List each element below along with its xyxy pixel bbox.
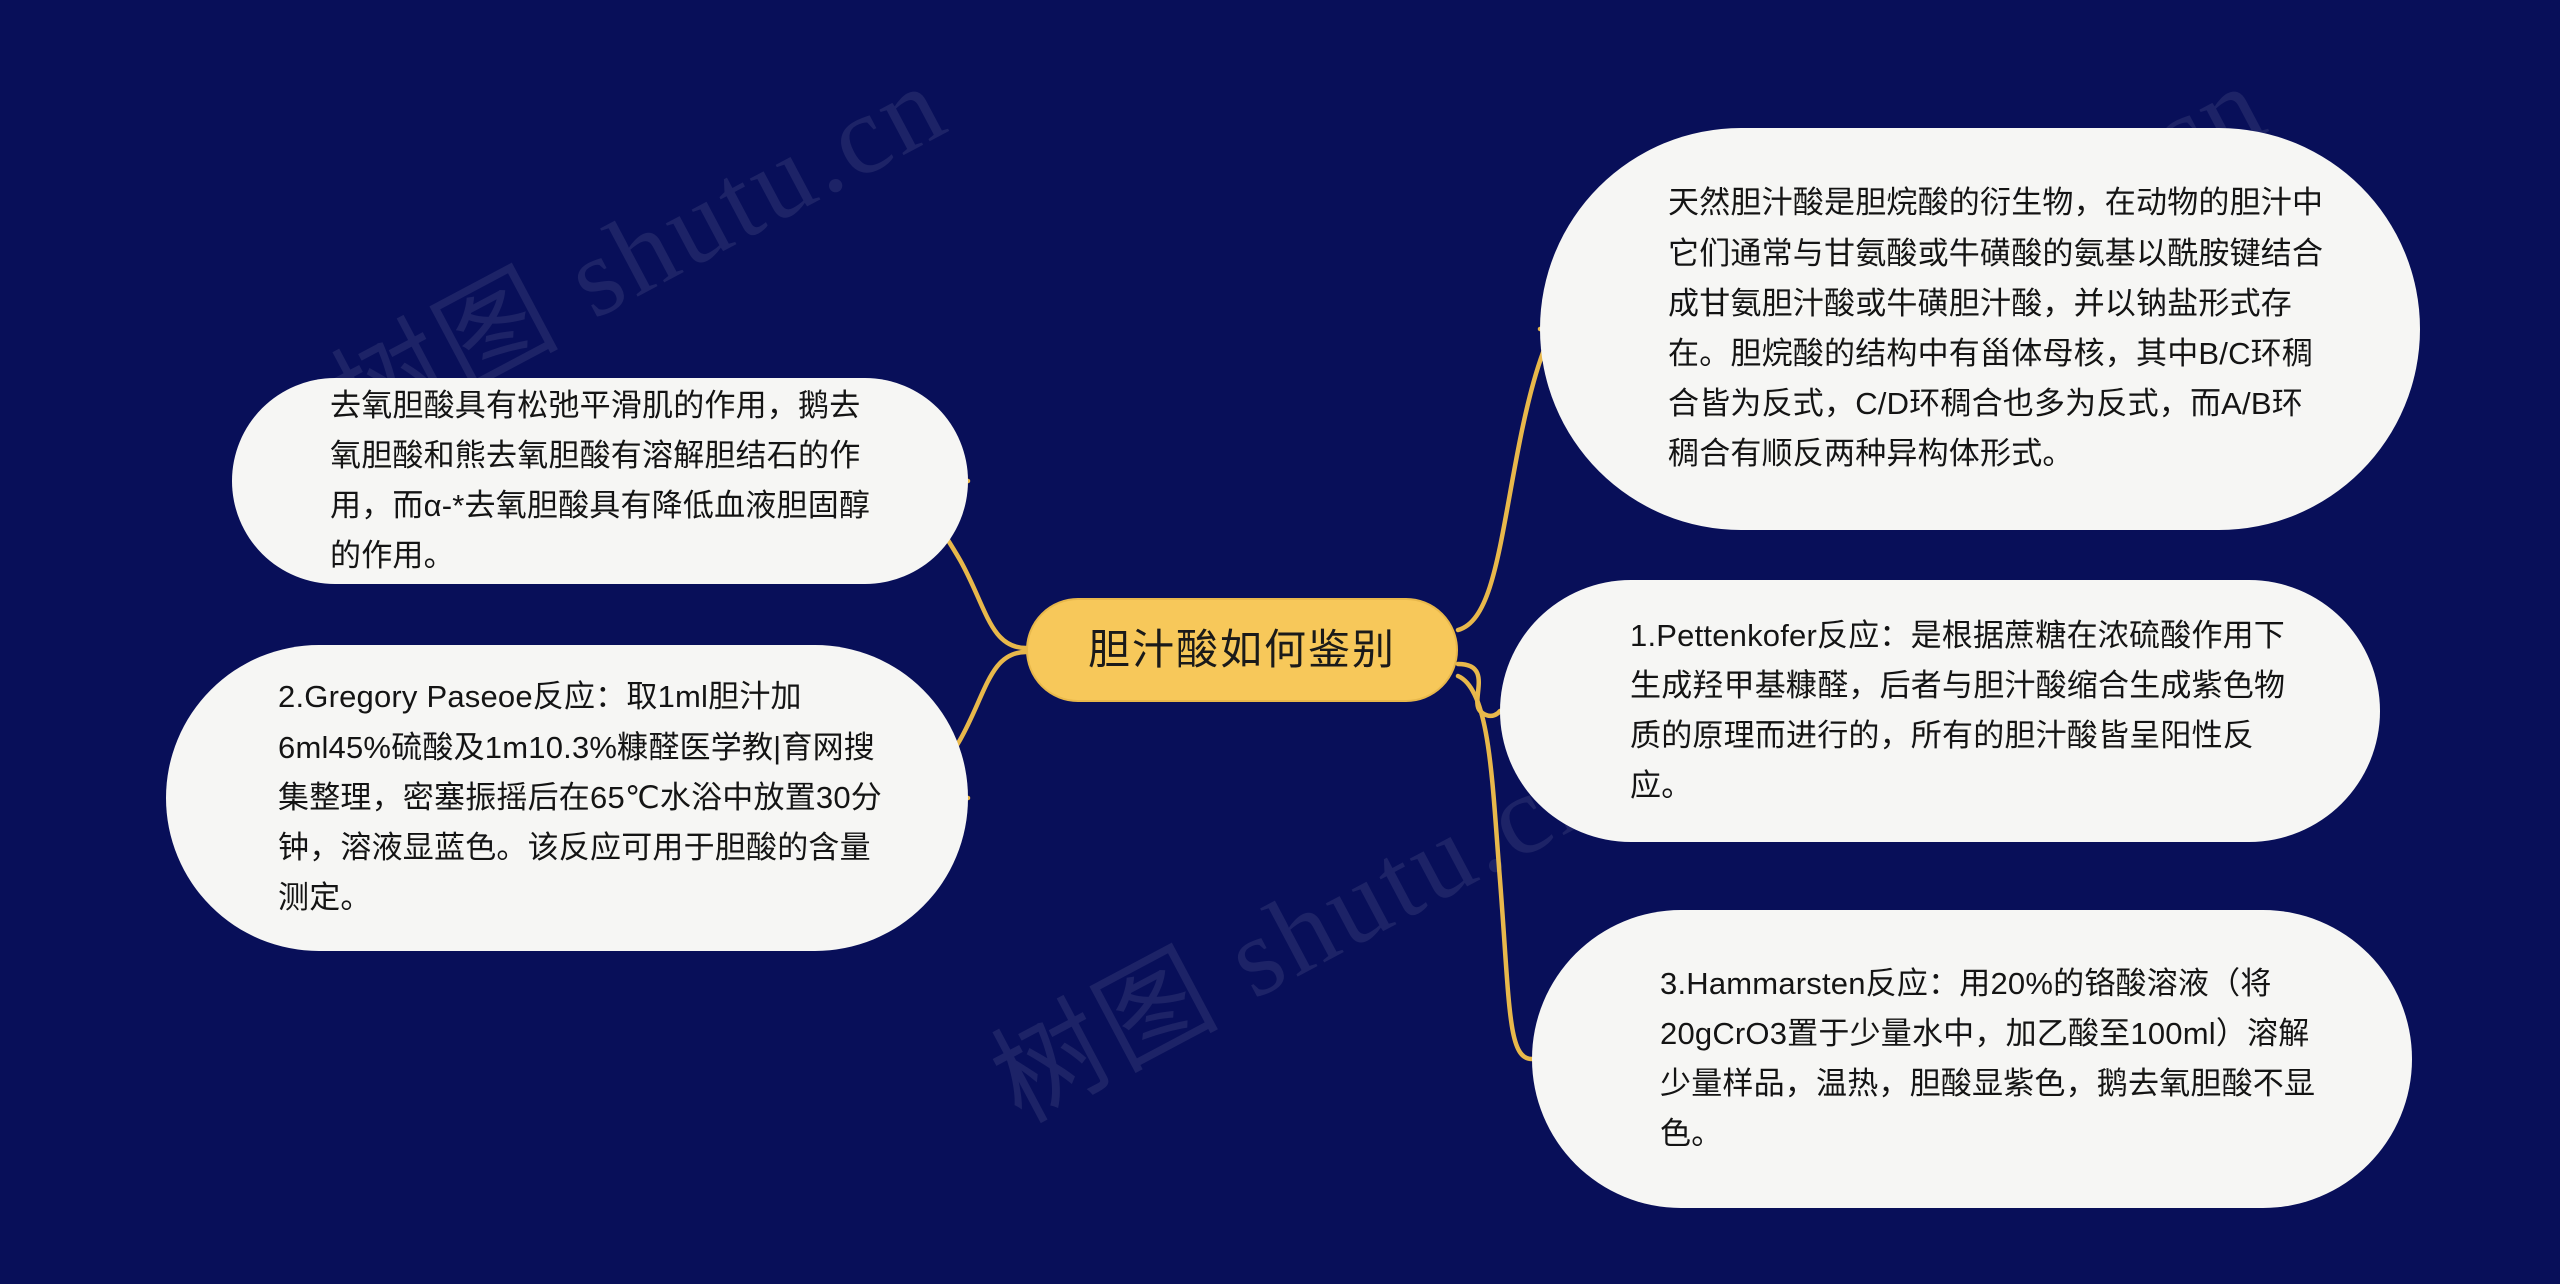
connector-root-to-right-top [1458, 327, 1554, 630]
mindmap-node-right-top[interactable]: 天然胆汁酸是胆烷酸的衍生物，在动物的胆汁中它们通常与甘氨酸或牛磺酸的氨基以酰胺键… [1540, 128, 2420, 530]
node-text: 天然胆汁酸是胆烷酸的衍生物，在动物的胆汁中它们通常与甘氨酸或牛磺酸的氨基以酰胺键… [1668, 178, 2330, 479]
node-text: 1.Pettenkofer反应：是根据蔗糖在浓硫酸作用下生成羟甲基糠醛，后者与胆… [1630, 611, 2296, 812]
root-node-label: 胆汁酸如何鉴别 [1088, 627, 1396, 673]
node-text: 3.Hammarsten反应：用20%的铬酸溶液（将20gCrO3置于少量水中，… [1660, 959, 2326, 1160]
mindmap-root-node[interactable]: 胆汁酸如何鉴别 [1026, 598, 1458, 702]
mindmap-node-left-top[interactable]: 去氧胆酸具有松弛平滑肌的作用，鹅去氧胆酸和熊去氧胆酸有溶解胆结石的作用，而α-*… [232, 378, 968, 584]
node-text: 2.Gregory Paseoe反应：取1ml胆汁加6ml45%硫酸及1m10.… [278, 672, 888, 923]
node-text: 去氧胆酸具有松弛平滑肌的作用，鹅去氧胆酸和熊去氧胆酸有溶解胆结石的作用，而α-*… [330, 381, 882, 582]
mindmap-canvas: 树图 shutu.cn 树图 shutu.cn 树图 shutu.cn 去氧胆酸… [0, 0, 2560, 1284]
mindmap-node-right-mid[interactable]: 1.Pettenkofer反应：是根据蔗糖在浓硫酸作用下生成羟甲基糠醛，后者与胆… [1500, 580, 2380, 842]
mindmap-node-right-bottom[interactable]: 3.Hammarsten反应：用20%的铬酸溶液（将20gCrO3置于少量水中，… [1532, 910, 2412, 1208]
mindmap-node-left-bottom[interactable]: 2.Gregory Paseoe反应：取1ml胆汁加6ml45%硫酸及1m10.… [166, 645, 968, 951]
